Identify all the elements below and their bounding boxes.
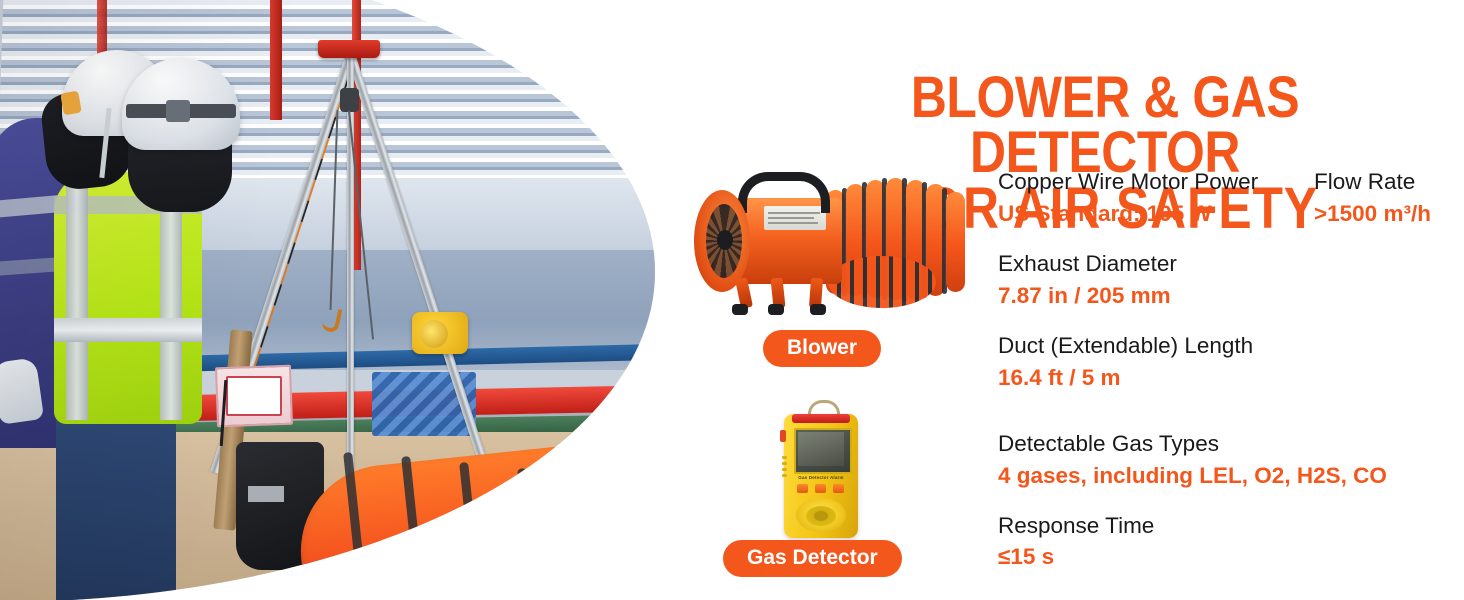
spec-row-exhaust-diameter: Exhaust Diameter 7.87 in / 205 mm (998, 248, 1464, 312)
duct-band (575, 474, 602, 600)
warning-sign-inner (226, 376, 282, 416)
spec-col-motor-power: Copper Wire Motor Power US Standard: 195… (998, 166, 1314, 230)
label-line (768, 217, 814, 219)
white-sheet-stripe (515, 493, 604, 536)
duct-segment (946, 192, 965, 292)
detector-screen-caption: Gas Detector Alarm (794, 476, 848, 481)
product-banner: BLOWER & GAS DETECTOR FOR AIR SAFETY (0, 0, 1464, 600)
spec-col-flow-rate: Flow Rate >1500 m³/h (1314, 166, 1464, 230)
detector-red-clip (792, 414, 850, 423)
detector-grip (782, 474, 787, 477)
vest-vertical-strip-left (66, 180, 88, 420)
red-post-icon (270, 0, 282, 120)
spec-value: ≤15 s (998, 541, 1464, 573)
fan-hub (717, 230, 733, 250)
detector-grip (782, 462, 787, 465)
spec-label: Response Time (998, 510, 1464, 542)
product-gallery: Blower Gas Detector Alarm Gas Detector (668, 160, 978, 590)
gas-detector-pill-label: Gas Detector (723, 540, 902, 577)
hero-photo (0, 0, 660, 600)
blower-foot-pad (810, 304, 826, 315)
detector-screen-display (798, 432, 844, 466)
spec-label: Copper Wire Motor Power (998, 166, 1314, 198)
spacer-large (998, 398, 1464, 428)
blower-image (676, 160, 976, 320)
spec-label: Detectable Gas Types (998, 428, 1464, 460)
specifications-list: Copper Wire Motor Power US Standard: 195… (998, 166, 1464, 577)
worker-jeans (56, 400, 176, 600)
hard-hat-buckle (166, 100, 190, 122)
spec-value: >1500 m³/h (1314, 198, 1464, 230)
spec-row-response-time: Response Time ≤15 s (998, 510, 1464, 574)
detector-button-2 (815, 484, 826, 493)
label-line (768, 222, 818, 224)
spec-value: 16.4 ft / 5 m (998, 362, 1464, 394)
spec-label: Duct (Extendable) Length (998, 330, 1464, 362)
detector-grip (782, 468, 787, 471)
detector-side-button (780, 430, 786, 442)
detector-sensor-core (814, 511, 828, 521)
white-sheet (494, 491, 637, 600)
spec-value: US Standard: 195 W (998, 198, 1314, 230)
spec-row-motor-power: Copper Wire Motor Power US Standard: 195… (998, 166, 1464, 230)
duct-coil (828, 256, 936, 308)
spacer (998, 316, 1464, 330)
pulley-icon (340, 88, 359, 112)
blower-pill-label: Blower (763, 330, 881, 367)
gas-detector-image: Gas Detector Alarm (768, 400, 878, 538)
spacer (998, 496, 1464, 510)
spec-value: 4 gases, including LEL, O2, H2S, CO (998, 460, 1464, 492)
spec-label: Flow Rate (1314, 166, 1464, 198)
hero-photo-clip (0, 0, 660, 600)
vest-vertical-strip-right (160, 180, 182, 420)
detector-grip (782, 456, 787, 459)
blower-foot-pad (732, 304, 748, 315)
detector-button-1 (797, 484, 808, 493)
spec-value: 7.87 in / 205 mm (998, 280, 1464, 312)
spec-row-gas-types: Detectable Gas Types 4 gases, including … (998, 428, 1464, 492)
ear-plug-icon (60, 91, 82, 116)
bag-reflective-strip (248, 486, 284, 502)
blower-foot-pad (768, 304, 784, 315)
vest-horizontal-strip (54, 318, 202, 342)
detector-button-3 (833, 484, 844, 493)
worksite-scene (0, 0, 660, 600)
spacer (998, 234, 1464, 248)
winch-drum (420, 320, 448, 348)
spec-label: Exhaust Diameter (998, 248, 1464, 280)
spec-row-duct-length: Duct (Extendable) Length 16.4 ft / 5 m (998, 330, 1464, 394)
duct-band (517, 468, 544, 600)
tripod-head (318, 40, 380, 58)
blower-handle (738, 172, 830, 213)
